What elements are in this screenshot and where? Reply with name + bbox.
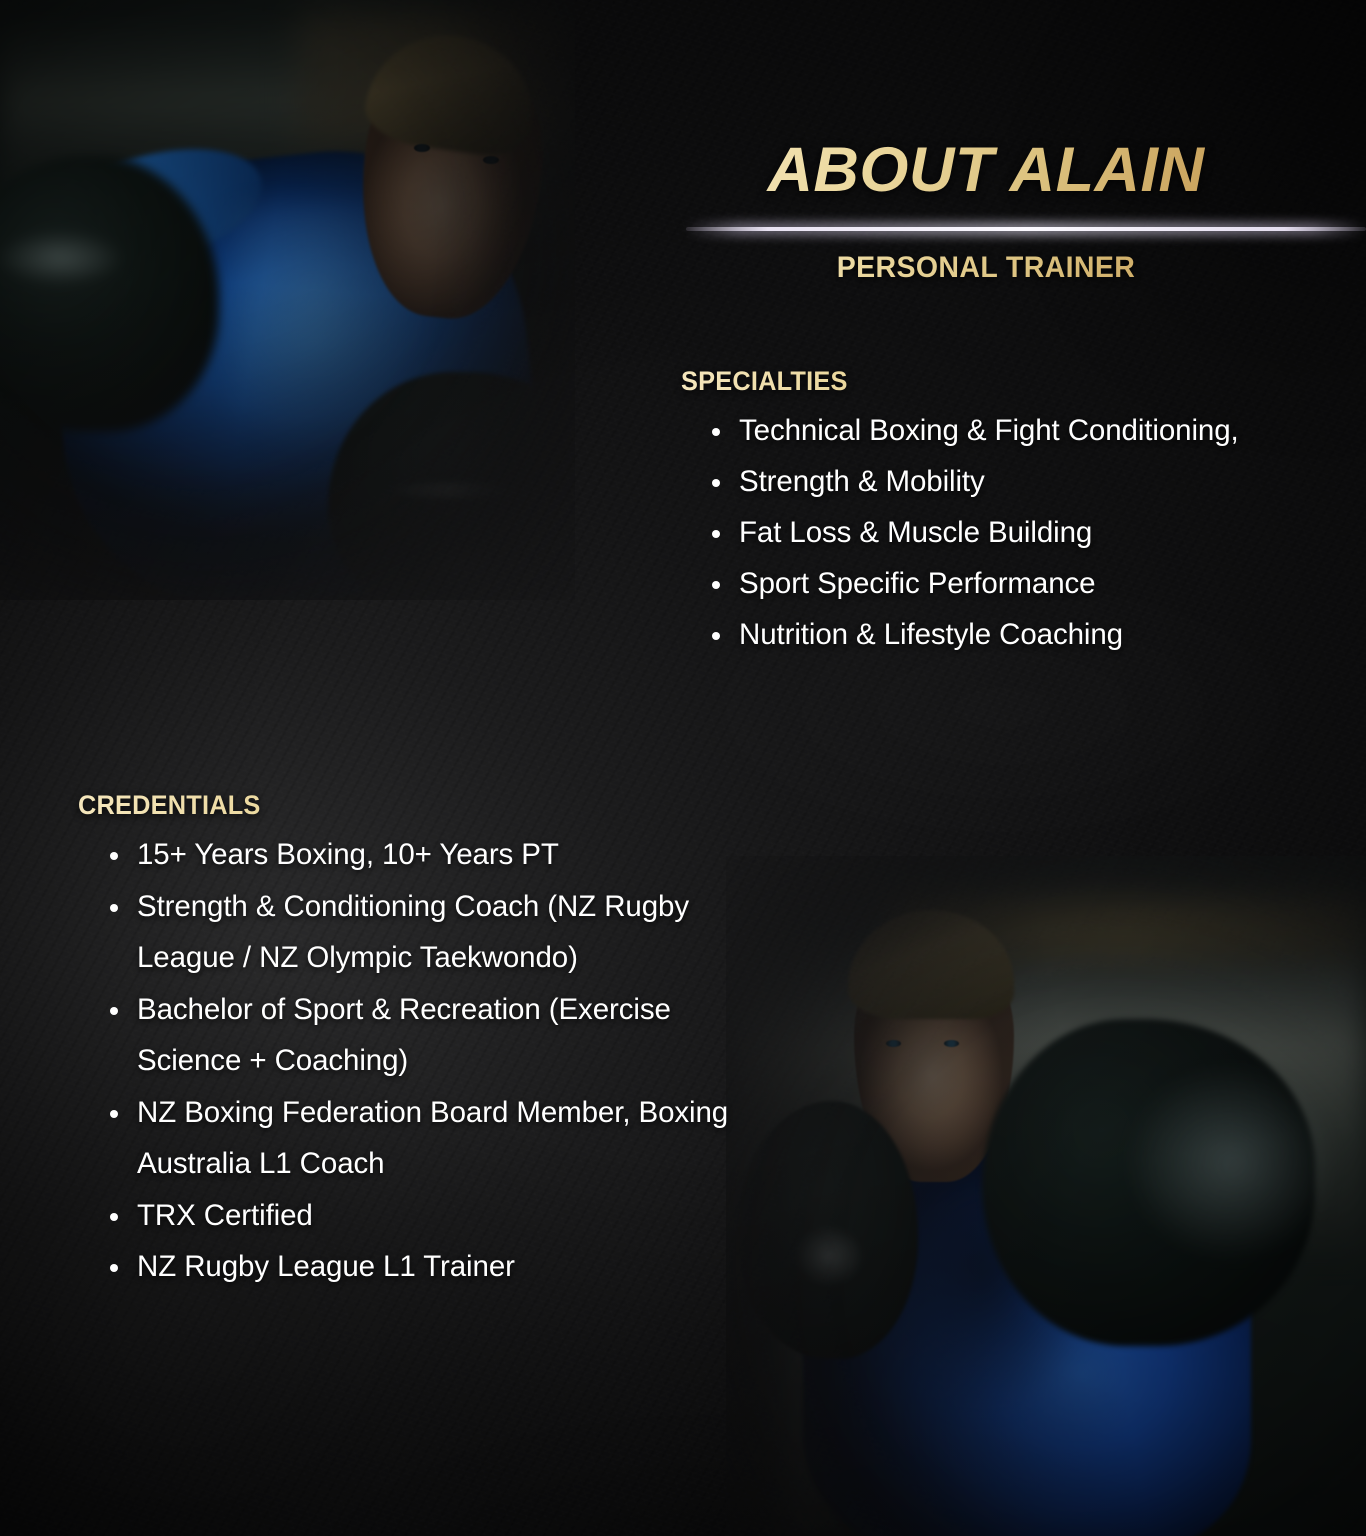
credentials-heading: CREDENTIALS xyxy=(78,790,736,821)
divider-line xyxy=(686,227,1366,231)
list-item: Technical Boxing & Fight Conditioning, xyxy=(712,405,1261,456)
poster-header: ABOUT ALAIN xyxy=(686,138,1286,204)
list-item: Nutrition & Lifestyle Coaching xyxy=(712,609,1261,660)
specialties-heading: SPECIALTIES xyxy=(681,366,1226,397)
list-item: NZ Boxing Federation Board Member, Boxin… xyxy=(110,1087,778,1190)
credentials-list: 15+ Years Boxing, 10+ Years PT Strength … xyxy=(110,829,778,1293)
specialties-section: SPECIALTIES Technical Boxing & Fight Con… xyxy=(681,366,1261,660)
list-item: Fat Loss & Muscle Building xyxy=(712,507,1261,558)
list-item: 15+ Years Boxing, 10+ Years PT xyxy=(110,829,778,881)
list-item: Sport Specific Performance xyxy=(712,558,1261,609)
about-alain-poster: ABOUT ALAIN PERSONAL TRAINER SPECIALTIES… xyxy=(0,0,1366,1536)
list-item: Strength & Conditioning Coach (NZ Rugby … xyxy=(110,881,778,984)
page-title: ABOUT ALAIN xyxy=(686,138,1286,204)
list-item: Bachelor of Sport & Recreation (Exercise… xyxy=(110,984,778,1087)
page-subtitle: PERSONAL TRAINER xyxy=(701,251,1271,285)
list-item: TRX Certified xyxy=(110,1190,778,1242)
list-item: NZ Rugby League L1 Trainer xyxy=(110,1241,778,1293)
credentials-section: CREDENTIALS 15+ Years Boxing, 10+ Years … xyxy=(78,790,778,1293)
specialties-list: Technical Boxing & Fight Conditioning, S… xyxy=(712,405,1261,660)
list-item: Strength & Mobility xyxy=(712,456,1261,507)
header-divider xyxy=(686,222,1366,236)
